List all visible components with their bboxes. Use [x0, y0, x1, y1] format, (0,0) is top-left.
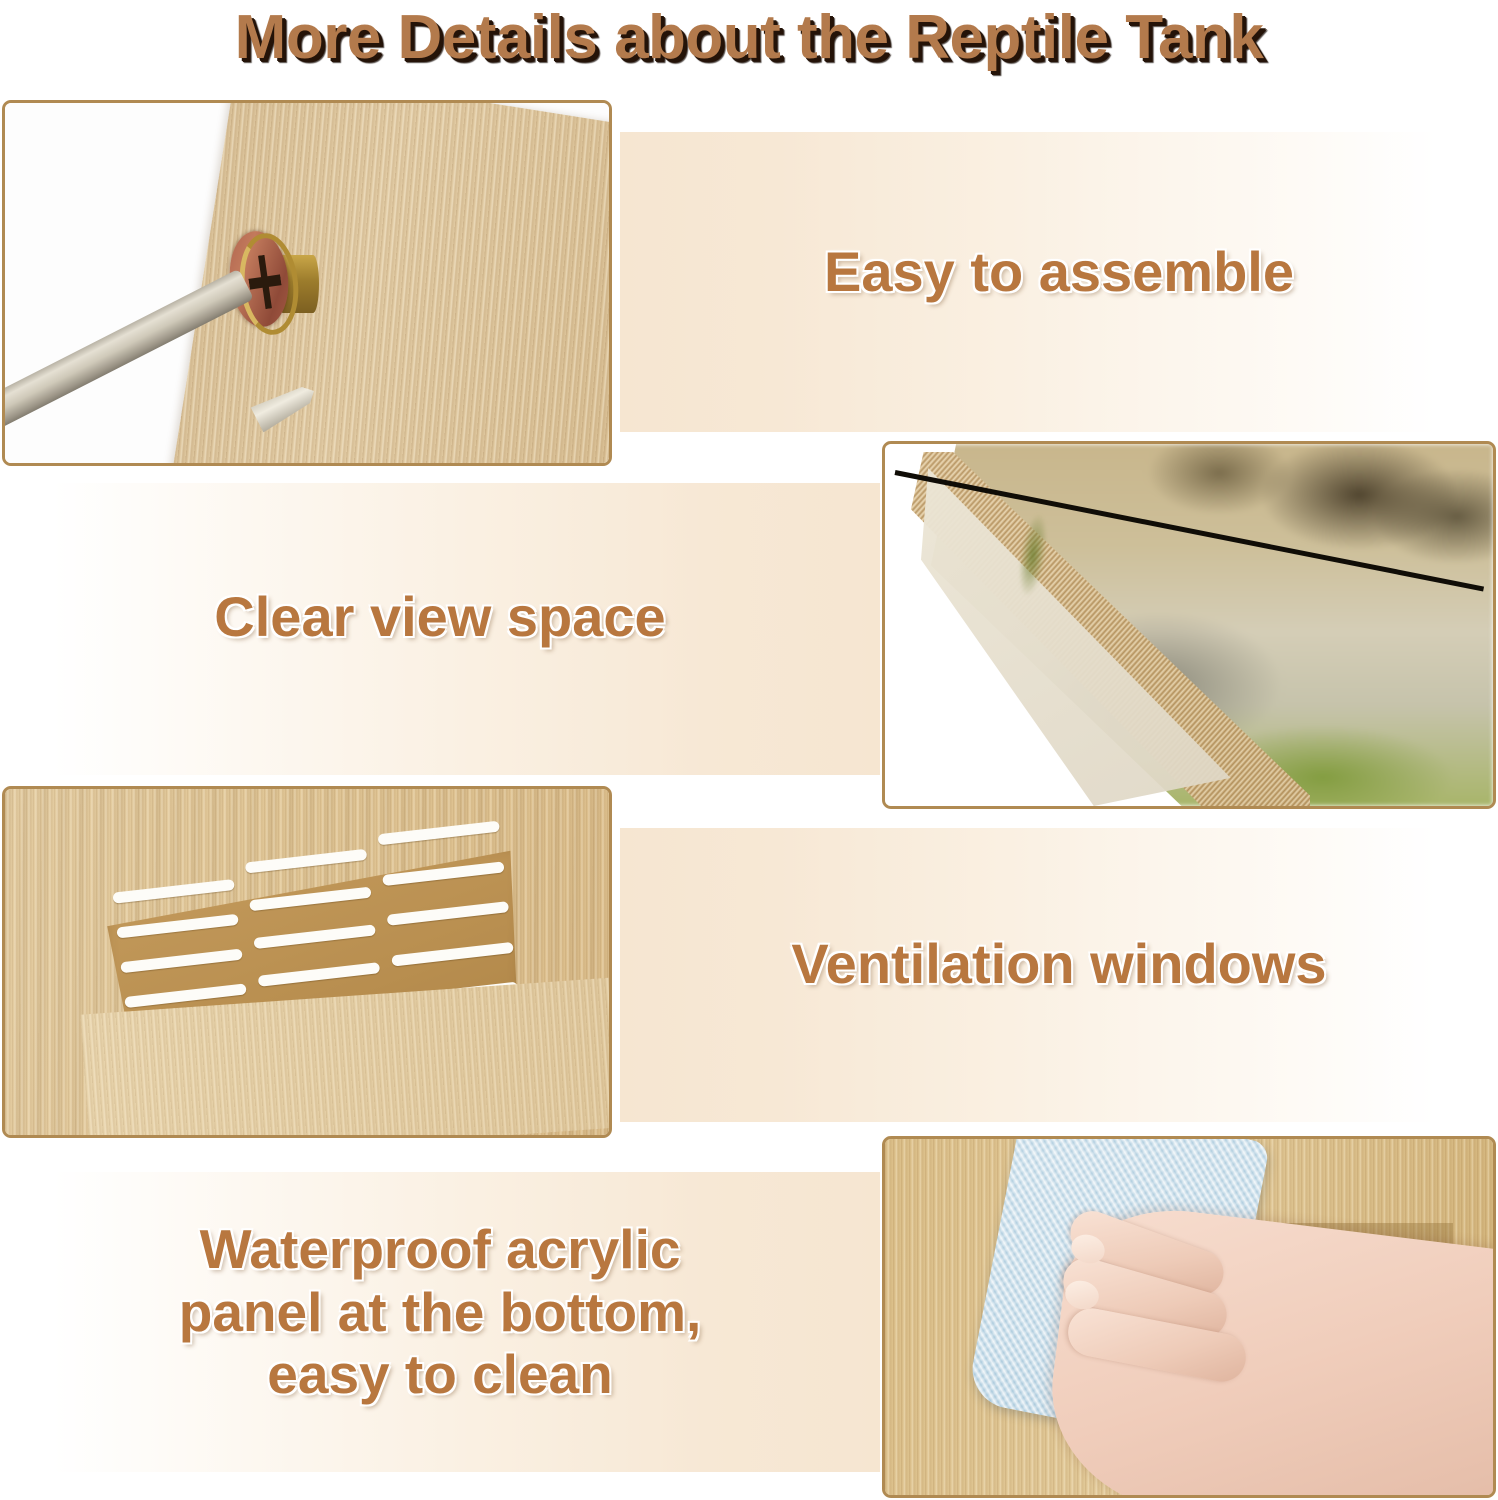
page-title: More Details about the Reptile Tank: [0, 2, 1498, 73]
vent-slot: [258, 962, 380, 987]
vent-slot: [249, 887, 371, 912]
hand-cleaning-panel-photo: [882, 1136, 1496, 1498]
vent-slot: [253, 924, 375, 949]
feature-caption-clear-view: Clear view space: [0, 585, 880, 649]
vent-slot: [391, 942, 513, 967]
feature-caption-assemble: Easy to assemble: [620, 240, 1498, 304]
vent-slot: [245, 849, 367, 874]
ventilation-grille-photo: [2, 786, 612, 1138]
vent-slot: [382, 861, 504, 886]
vent-slot: [387, 901, 509, 926]
vent-slot: [120, 949, 242, 974]
screwdriver-screw-photo: [2, 100, 612, 466]
product-detail-infographic: More Details about the Reptile Tank Easy…: [0, 0, 1498, 1500]
vent-slot: [112, 879, 234, 904]
feature-caption-ventilation: Ventilation windows: [620, 932, 1498, 996]
feature-caption-waterproof: Waterproof acrylic panel at the bottom, …: [0, 1218, 880, 1406]
acrylic-clear-panel-photo: [882, 441, 1496, 809]
vent-slot: [116, 914, 238, 939]
